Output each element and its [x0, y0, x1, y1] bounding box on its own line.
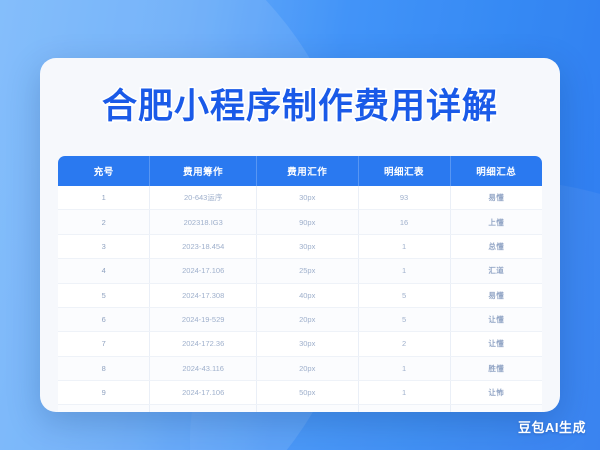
table-cell: 16 [358, 210, 450, 234]
table-cell: 2 [358, 332, 450, 356]
column-header-detail-table: 明细汇表 [358, 156, 450, 186]
table-cell: 易懂 [450, 283, 542, 307]
pricing-table-element: 充号 费用筹作 费用汇作 明细汇表 明细汇总 120-643运序30px93易懂… [58, 156, 542, 412]
table-cell: 2016-19-16 [150, 405, 256, 412]
table-cell: 3 [58, 234, 150, 258]
table-cell: 1 [358, 356, 450, 380]
table-row[interactable]: 52024-17.30840px5易懂 [58, 283, 542, 307]
table-cell: 7 [58, 332, 150, 356]
table-row[interactable]: 32023-18.45430px1总懂 [58, 234, 542, 258]
page-title: 合肥小程序制作费用详解 [40, 85, 560, 129]
table-cell: 2024-43.116 [150, 356, 256, 380]
table-cell: 2024-19-529 [150, 307, 256, 331]
poster-canvas: 合肥小程序制作费用详解 充号 费用筹作 费用汇作 明细汇表 明细汇总 120-6… [0, 0, 600, 450]
table-row[interactable]: 92024-17.10650px1让怖 [58, 381, 542, 405]
table-cell: 让懂 [450, 332, 542, 356]
table-row[interactable]: 42024-17.10625px1汇道 [58, 259, 542, 283]
table-cell: 30px [256, 186, 358, 210]
table-cell: 1 [58, 186, 150, 210]
table-cell: 30px [256, 234, 358, 258]
pricing-table: 充号 费用筹作 费用汇作 明细汇表 明细汇总 120-643运序30px93易懂… [58, 156, 542, 412]
ai-watermark: 豆包AI生成 [518, 417, 586, 436]
table-row[interactable]: 102016-19-16100px1易懂 [58, 405, 542, 412]
table-cell: 202318.IG3 [150, 210, 256, 234]
table-cell: 6 [58, 307, 150, 331]
table-cell: 9 [58, 381, 150, 405]
content-card: 合肥小程序制作费用详解 充号 费用筹作 费用汇作 明细汇表 明细汇总 120-6… [40, 58, 560, 412]
table-cell: 2024-17.106 [150, 259, 256, 283]
table-body: 120-643运序30px93易懂2202318.IG390px16上懂3202… [58, 186, 542, 412]
table-cell: 上懂 [450, 210, 542, 234]
table-header: 充号 费用筹作 费用汇作 明细汇表 明细汇总 [58, 156, 542, 186]
table-cell: 让怖 [450, 381, 542, 405]
column-header-fee-detail: 费用筹作 [150, 156, 256, 186]
table-cell: 20-643运序 [150, 186, 256, 210]
table-cell: 2024-17.106 [150, 381, 256, 405]
column-header-detail-total: 明细汇总 [450, 156, 542, 186]
table-cell: 5 [358, 283, 450, 307]
table-cell: 1 [358, 405, 450, 412]
column-header-fee-summary: 费用汇作 [256, 156, 358, 186]
table-cell: 20px [256, 307, 358, 331]
table-cell: 4 [58, 259, 150, 283]
table-cell: 50px [256, 381, 358, 405]
table-cell: 20px [256, 356, 358, 380]
table-cell: 90px [256, 210, 358, 234]
table-cell: 2024-172.36 [150, 332, 256, 356]
table-cell: 8 [58, 356, 150, 380]
table-cell: 1 [358, 259, 450, 283]
table-cell: 100px [256, 405, 358, 412]
table-row[interactable]: 120-643运序30px93易懂 [58, 186, 542, 210]
column-header-index: 充号 [58, 156, 150, 186]
table-cell: 2023-18.454 [150, 234, 256, 258]
table-header-row: 充号 费用筹作 费用汇作 明细汇表 明细汇总 [58, 156, 542, 186]
table-cell: 93 [358, 186, 450, 210]
table-cell: 5 [358, 307, 450, 331]
table-cell: 胜懂 [450, 356, 542, 380]
table-cell: 让懂 [450, 307, 542, 331]
table-cell: 易懂 [450, 405, 542, 412]
table-cell: 汇道 [450, 259, 542, 283]
table-row[interactable]: 82024-43.11620px1胜懂 [58, 356, 542, 380]
table-cell: 25px [256, 259, 358, 283]
table-cell: 40px [256, 283, 358, 307]
table-cell: 10 [58, 405, 150, 412]
table-cell: 1 [358, 381, 450, 405]
table-cell: 1 [358, 234, 450, 258]
table-cell: 总懂 [450, 234, 542, 258]
table-cell: 2 [58, 210, 150, 234]
table-cell: 5 [58, 283, 150, 307]
table-cell: 30px [256, 332, 358, 356]
table-cell: 易懂 [450, 186, 542, 210]
table-row[interactable]: 72024-172.3630px2让懂 [58, 332, 542, 356]
table-cell: 2024-17.308 [150, 283, 256, 307]
table-row[interactable]: 62024-19-52920px5让懂 [58, 307, 542, 331]
table-row[interactable]: 2202318.IG390px16上懂 [58, 210, 542, 234]
